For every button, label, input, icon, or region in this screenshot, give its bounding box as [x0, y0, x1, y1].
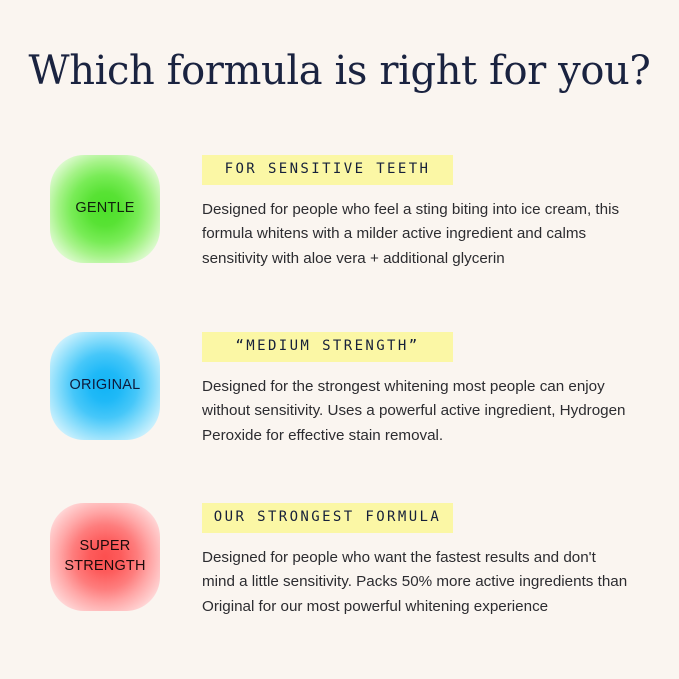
badge-gentle: FOR SENSITIVE TEETH: [202, 155, 453, 185]
formula-content-original: “MEDIUM STRENGTH” Designed for the stron…: [202, 332, 642, 449]
formula-content-super-strength: OUR STRONGEST FORMULA Designed for peopl…: [202, 503, 642, 620]
formula-content-gentle: FOR SENSITIVE TEETH Designed for people …: [202, 155, 642, 272]
swatch-label-super-strength-line1: SUPER: [80, 538, 131, 554]
formula-comparison-infographic: Which formula is right for you? GENTLE F…: [0, 0, 679, 679]
swatch-label-original: ORIGINAL: [70, 376, 141, 396]
description-gentle: Designed for people who feel a sting bit…: [202, 198, 630, 272]
formula-row-super-strength: SUPER STRENGTH OUR STRONGEST FORMULA Des…: [0, 503, 679, 623]
swatch-tile-super-strength[interactable]: SUPER STRENGTH: [50, 503, 160, 611]
description-original: Designed for the strongest whitening mos…: [202, 375, 630, 449]
swatch-label-super-strength-line2: STRENGTH: [64, 558, 145, 574]
badge-original: “MEDIUM STRENGTH”: [202, 332, 453, 362]
page-title: Which formula is right for you?: [0, 48, 679, 94]
swatch-label-super-strength: SUPER STRENGTH: [64, 537, 145, 576]
swatch-tile-original[interactable]: ORIGINAL: [50, 332, 160, 440]
swatch-tile-gentle[interactable]: GENTLE: [50, 155, 160, 263]
formula-row-gentle: GENTLE FOR SENSITIVE TEETH Designed for …: [0, 155, 679, 275]
badge-super-strength: OUR STRONGEST FORMULA: [202, 503, 453, 533]
description-super-strength: Designed for people who want the fastest…: [202, 546, 630, 620]
formula-row-original: ORIGINAL “MEDIUM STRENGTH” Designed for …: [0, 332, 679, 452]
swatch-label-gentle: GENTLE: [75, 199, 134, 219]
